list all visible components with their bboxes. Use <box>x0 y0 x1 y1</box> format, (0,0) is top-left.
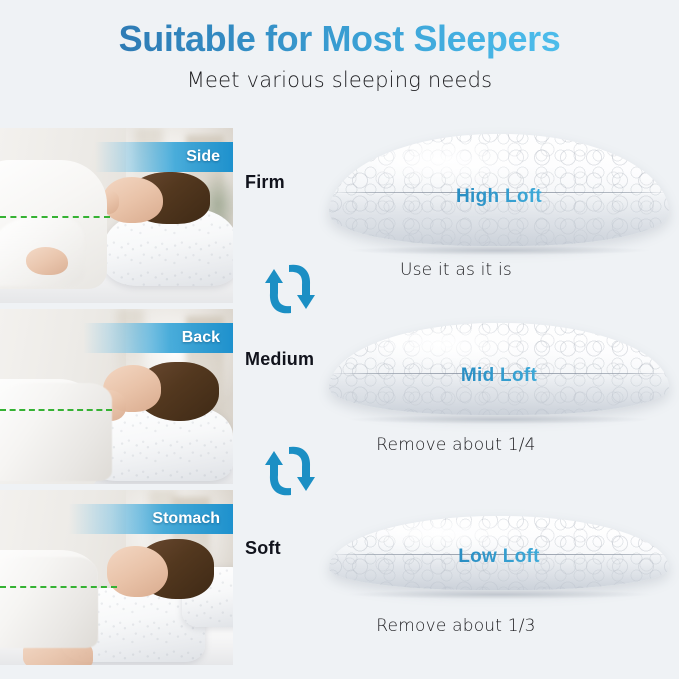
loft-row-soft: Soft Low Loft Remove about 1/3 <box>233 490 679 665</box>
alignment-line-back <box>0 409 112 411</box>
sleeper-photo-back: Back <box>0 309 233 484</box>
sleeper-photo-column: Side Back <box>0 128 233 679</box>
firmness-label-firm: Firm <box>245 172 285 193</box>
alignment-line-stomach <box>0 586 117 588</box>
loft-label-low: Low Loft <box>329 546 669 568</box>
header: Suitable for Most Sleepers Meet various … <box>0 0 679 92</box>
badge-stomach: Stomach <box>69 504 233 534</box>
firmness-label-medium: Medium <box>245 349 314 370</box>
page-title: Suitable for Most Sleepers <box>0 18 679 59</box>
badge-side: Side <box>95 142 233 172</box>
caption-soft: Remove about 1/3 <box>233 616 679 636</box>
pillow-high-loft: High Loft <box>329 134 669 262</box>
page-subtitle: Meet various sleeping needs <box>0 68 679 92</box>
comparison-grid: Side Back <box>0 128 679 679</box>
firmness-label-soft: Soft <box>245 538 281 559</box>
badge-back: Back <box>83 323 233 353</box>
sleeper-photo-stomach: Stomach <box>0 490 233 665</box>
loft-label-mid: Mid Loft <box>329 365 669 387</box>
alignment-line-side <box>0 216 110 218</box>
loft-label-high: High Loft <box>329 186 669 208</box>
sleeper-photo-side: Side <box>0 128 233 303</box>
pillow-mid-loft: Mid Loft <box>329 323 669 451</box>
pillow-loft-column: Firm High Loft Use it as it is <box>233 128 679 679</box>
